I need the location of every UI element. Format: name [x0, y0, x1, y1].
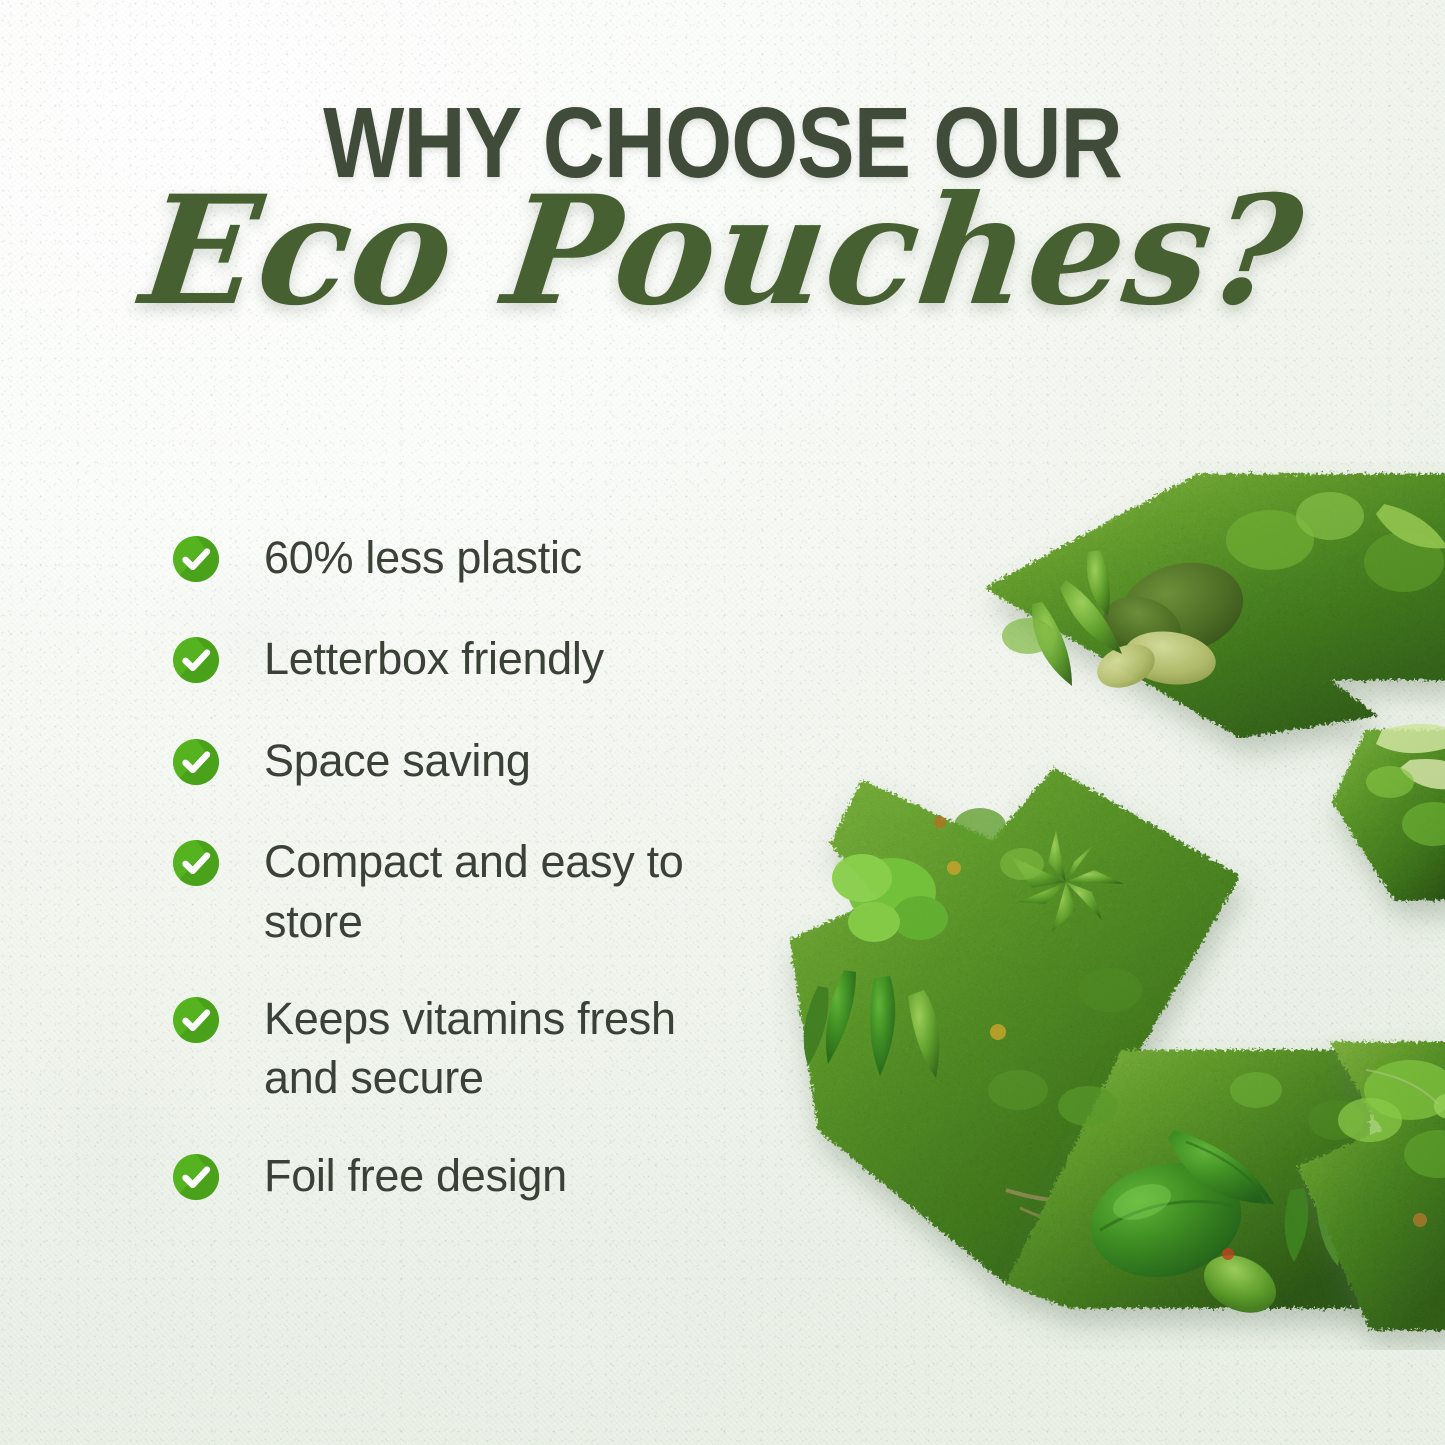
- eco-pouches-promo-graphic: WHY CHOOSE OUR Eco Pouches? 60% less pla…: [0, 0, 1445, 1445]
- list-item: Keeps vitamins fresh and secure: [172, 989, 752, 1108]
- check-circle-icon: [172, 839, 220, 887]
- list-item-label: Space saving: [264, 731, 531, 790]
- list-item: Letterbox friendly: [172, 629, 752, 688]
- check-circle-icon: [172, 996, 220, 1044]
- check-circle-icon: [172, 636, 220, 684]
- list-item: Space saving: [172, 731, 752, 790]
- list-item: Foil free design: [172, 1146, 752, 1205]
- list-item-label: Letterbox friendly: [264, 629, 604, 688]
- check-circle-icon: [172, 1153, 220, 1201]
- list-item-label: Keeps vitamins fresh and secure: [264, 989, 744, 1108]
- list-item-label: Compact and easy to store: [264, 832, 744, 951]
- list-item: Compact and easy to store: [172, 832, 752, 951]
- check-circle-icon: [172, 535, 220, 583]
- page-title-line2: Eco Pouches?: [0, 176, 1445, 326]
- list-item: 60% less plastic: [172, 528, 752, 587]
- list-item-label: 60% less plastic: [264, 528, 582, 587]
- check-circle-icon: [172, 738, 220, 786]
- list-item-label: Foil free design: [264, 1146, 567, 1205]
- benefits-list: 60% less plastic Letterbox friendly: [172, 528, 752, 1247]
